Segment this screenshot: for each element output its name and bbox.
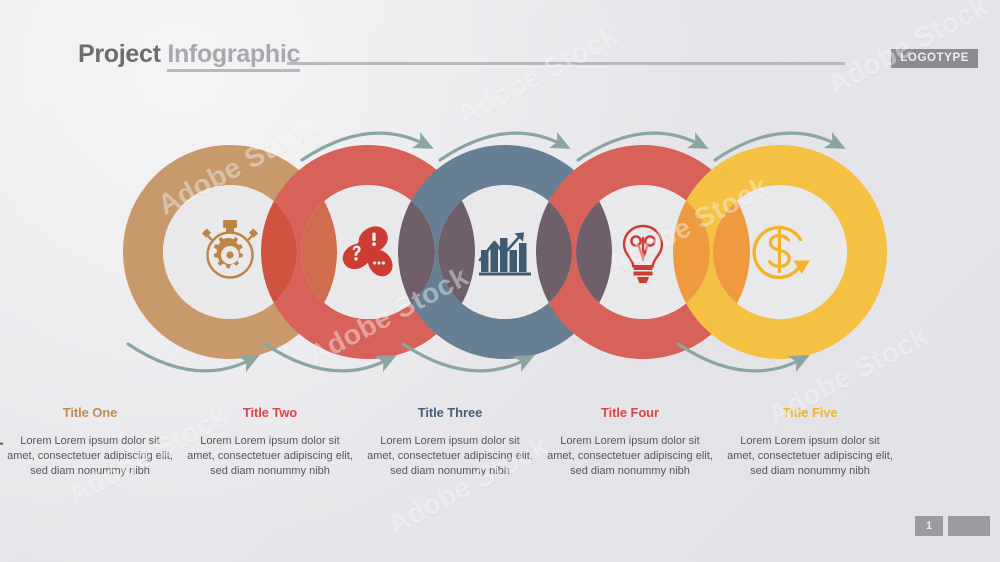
page-number-badge: 1 [915,516,943,536]
slide-canvas: Project Infographic LOGOTYPE [0,0,1000,562]
title-part-one: Project [78,40,161,68]
process-diagram [0,112,1000,382]
caption-row: Title One Lorem Lorem ipsum dolor sit am… [0,405,1000,505]
caption-body-3: Lorem Lorem ipsum dolor sit amet, consec… [360,434,540,479]
caption-item-4: Title Four Lorem Lorem ipsum dolor sit a… [540,405,720,505]
caption-item-2: Title Two Lorem Lorem ipsum dolor sit am… [180,405,360,505]
title-part-two: Infographic [167,40,300,72]
stock-watermark-label: Adobe Stock | #280179362 [0,352,4,544]
caption-title-1: Title One [0,405,180,420]
caption-body-5: Lorem Lorem ipsum dolor sit amet, consec… [720,434,900,479]
page-title: Project Infographic [78,40,300,69]
header-divider-rule [287,62,845,65]
footer-accent-bar [948,516,990,536]
logotype-badge: LOGOTYPE [891,49,978,68]
caption-item-5: Title Five Lorem Lorem ipsum dolor sit a… [720,405,900,505]
caption-title-4: Title Four [540,405,720,420]
caption-title-5: Title Five [720,405,900,420]
slide-header: Project Infographic LOGOTYPE [0,0,1000,95]
caption-title-2: Title Two [180,405,360,420]
caption-body-4: Lorem Lorem ipsum dolor sit amet, consec… [540,434,720,479]
caption-body-1: Lorem Lorem ipsum dolor sit amet, consec… [0,434,180,479]
caption-item-3: Title Three Lorem Lorem ipsum dolor sit … [360,405,540,505]
caption-item-1: Title One Lorem Lorem ipsum dolor sit am… [0,405,180,505]
caption-title-3: Title Three [360,405,540,420]
caption-body-2: Lorem Lorem ipsum dolor sit amet, consec… [180,434,360,479]
